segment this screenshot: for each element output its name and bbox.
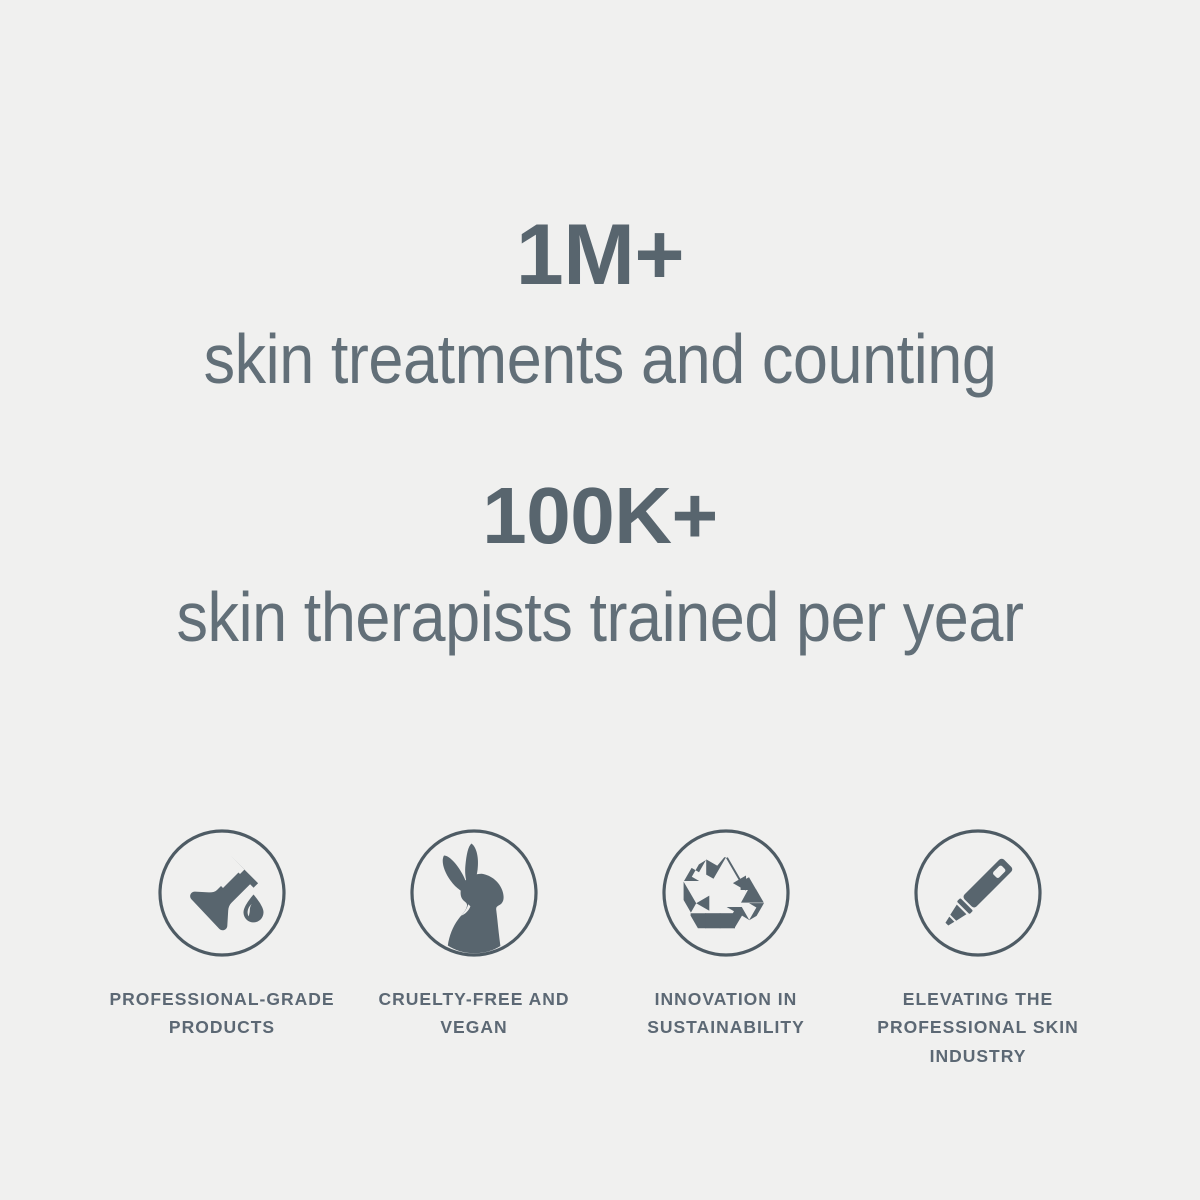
brand-stats-panel: 1M+ skin treatments and counting 100K+ s…: [0, 0, 1200, 1200]
stat-caption-treatments: skin treatments and counting: [60, 320, 1140, 398]
stat-block-therapists: 100K+ skin therapists trained per year: [0, 476, 1200, 656]
marker-pen-icon: [913, 828, 1043, 958]
flask-droplet-icon: [157, 828, 287, 958]
badge-label-professional-grade-products: PROFESSIONAL-GRADE PRODUCTS: [96, 985, 348, 1042]
badge-label-innovation-in-sustainability: INNOVATION IN SUSTAINABILITY: [619, 985, 834, 1042]
badge-label-elevating-professional-skin-industry: ELEVATING THE PROFESSIONAL SKIN INDUSTRY: [858, 985, 1098, 1070]
badge-cruelty-free-and-vegan: CRUELTY-FREE AND VEGAN: [348, 828, 600, 1042]
stat-caption-therapists: skin therapists trained per year: [60, 578, 1140, 656]
brand-values-row: PROFESSIONAL-GRADE PRODUCTS: [0, 828, 1200, 1070]
stat-block-treatments: 1M+ skin treatments and counting: [0, 212, 1200, 398]
badge-professional-grade-products: PROFESSIONAL-GRADE PRODUCTS: [96, 828, 348, 1042]
stat-value-treatments: 1M+: [0, 212, 1200, 298]
badge-elevating-professional-skin-industry: ELEVATING THE PROFESSIONAL SKIN INDUSTRY: [852, 828, 1104, 1070]
badge-label-cruelty-free-and-vegan: CRUELTY-FREE AND VEGAN: [369, 985, 579, 1042]
recycle-icon: [661, 828, 791, 958]
rabbit-icon: [409, 828, 539, 958]
stat-value-therapists: 100K+: [0, 476, 1200, 556]
statistics-section: 1M+ skin treatments and counting 100K+ s…: [0, 0, 1200, 780]
badge-innovation-in-sustainability: INNOVATION IN SUSTAINABILITY: [600, 828, 852, 1042]
